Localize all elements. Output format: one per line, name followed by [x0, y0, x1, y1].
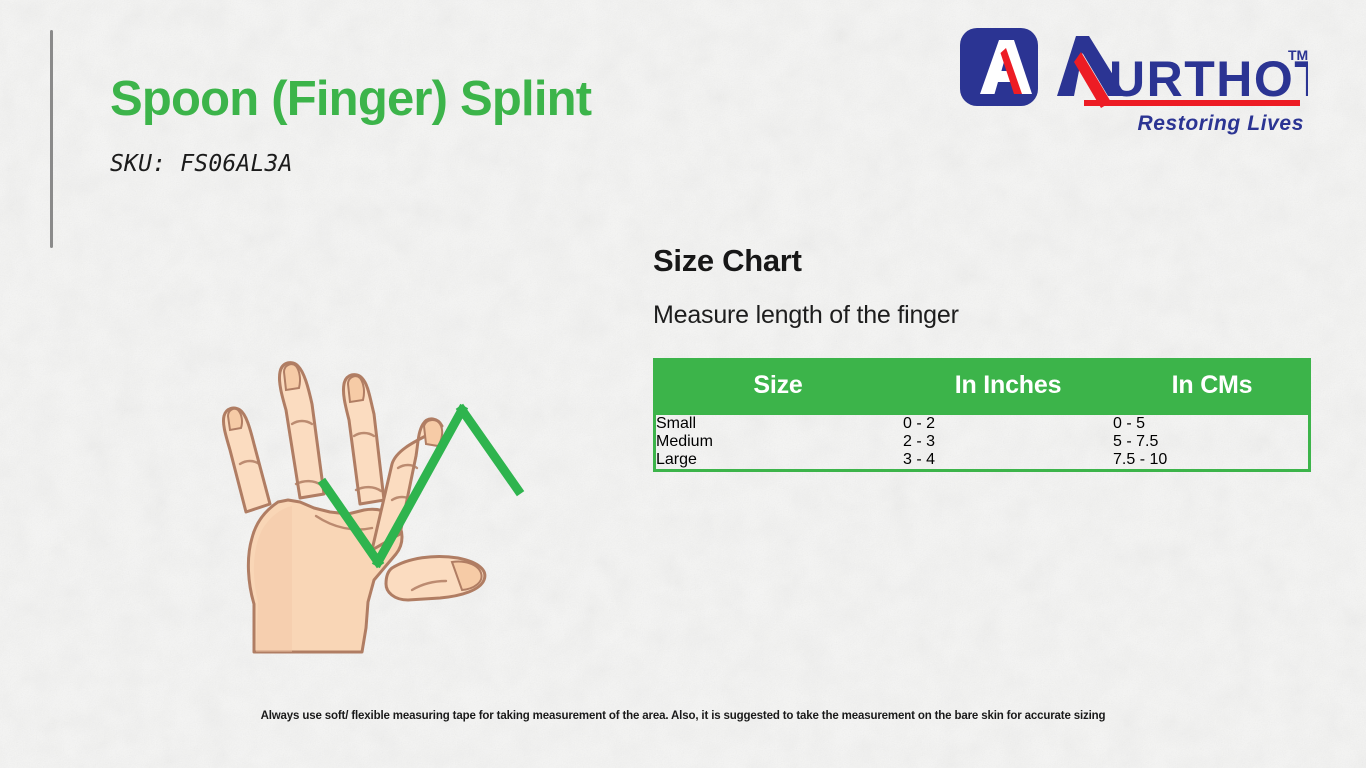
cell-cms-large: 7.5 - 10 [1113, 451, 1308, 469]
cell-cms-medium: 5 - 7.5 [1113, 433, 1308, 451]
size-chart-table: Size In Inches In CMs [653, 358, 1311, 415]
title-accent-rule [50, 30, 53, 248]
cell-size-small: Small [656, 415, 903, 433]
logo-mark-icon [960, 28, 1038, 106]
cell-cms-small: 0 - 5 [1113, 415, 1308, 433]
logo-tagline: Restoring Lives [1137, 112, 1304, 135]
logo-wordmark-text: URTHOT [1109, 51, 1308, 107]
hand-icon [223, 363, 484, 652]
title-block: Spoon (Finger) Splint SKU: FS06AL3A [110, 74, 591, 177]
size-chart-subheading: Measure length of the finger [653, 301, 1311, 330]
footer-note: Always use soft/ flexible measuring tape… [0, 710, 1366, 722]
cell-size-large: Large [656, 451, 903, 469]
cell-size-medium: Medium [656, 433, 903, 451]
size-chart-heading: Size Chart [653, 243, 1311, 279]
poster-canvas: Spoon (Finger) Splint SKU: FS06AL3A [0, 0, 1366, 768]
logo-trademark: TM [1288, 47, 1308, 63]
table-row: Large 3 - 4 7.5 - 10 [656, 451, 1308, 469]
cell-inches-small: 0 - 2 [903, 415, 1113, 433]
size-chart-table-body-frame: Small 0 - 2 0 - 5 Medium 2 - 3 5 - 7.5 L… [653, 415, 1311, 472]
table-header-row: Size In Inches In CMs [653, 358, 1311, 415]
size-chart-rows: Small 0 - 2 0 - 5 Medium 2 - 3 5 - 7.5 L… [656, 415, 1308, 469]
column-header-inches: In Inches [903, 358, 1113, 415]
brand-logo: URTHOT TM Restoring Lives [958, 24, 1308, 140]
cell-inches-medium: 2 - 3 [903, 433, 1113, 451]
size-chart-table-head: Size In Inches In CMs [653, 358, 1311, 415]
column-header-cms: In CMs [1113, 358, 1311, 415]
table-row: Small 0 - 2 0 - 5 [656, 415, 1308, 433]
product-sku: SKU: FS06AL3A [110, 151, 591, 177]
column-header-size: Size [653, 358, 903, 415]
page-title: Spoon (Finger) Splint [110, 74, 591, 125]
cell-inches-large: 3 - 4 [903, 451, 1113, 469]
table-row: Medium 2 - 3 5 - 7.5 [656, 433, 1308, 451]
hand-illustration [196, 352, 526, 662]
size-chart-panel: Size Chart Measure length of the finger … [653, 243, 1311, 472]
